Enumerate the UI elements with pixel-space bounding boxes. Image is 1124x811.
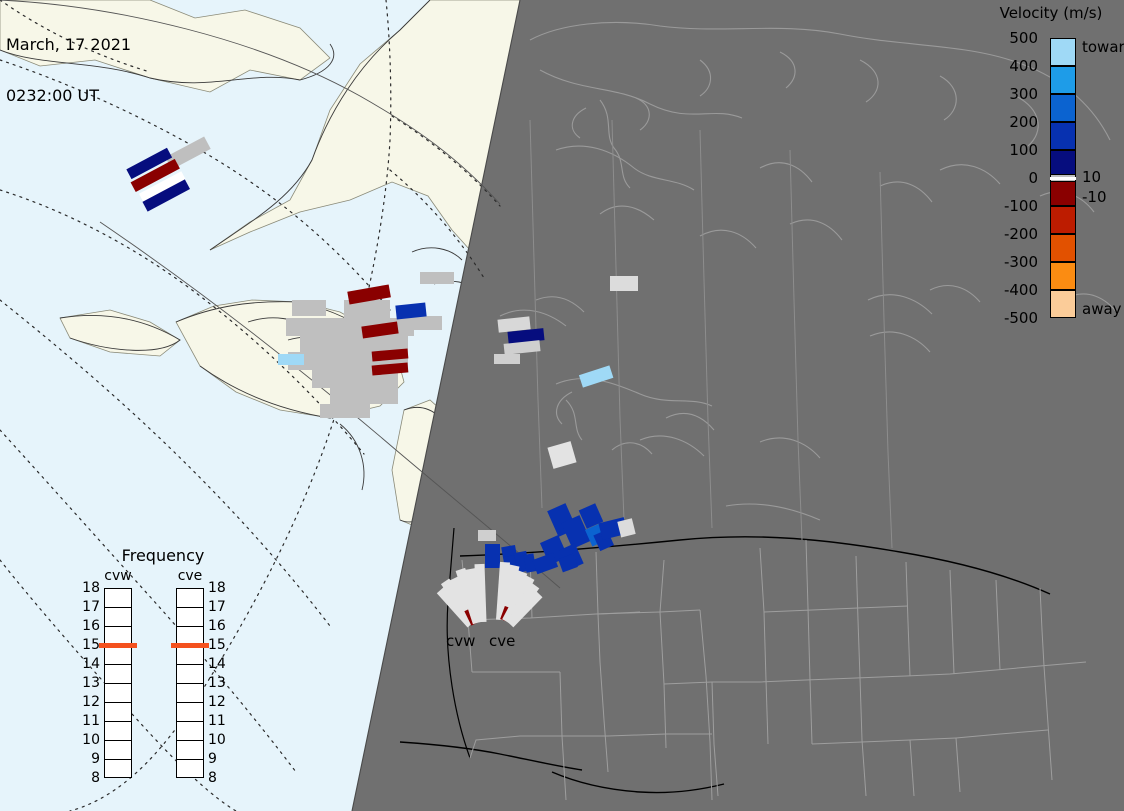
frequency-tick-label: 12 xyxy=(208,695,230,709)
frequency-tick-label: 16 xyxy=(208,619,230,633)
frequency-cell xyxy=(177,722,203,741)
frequency-tick-label: 9 xyxy=(78,752,100,766)
frequency-cell xyxy=(105,684,131,703)
frequency-cell xyxy=(105,703,131,722)
frequency-tick-label: 18 xyxy=(78,581,100,595)
frequency-tick-label: 10 xyxy=(208,733,230,747)
velocity-tick-label: -500 xyxy=(1004,311,1038,326)
frequency-cell xyxy=(105,760,131,779)
frequency-tick-label: 12 xyxy=(78,695,100,709)
frequency-cell xyxy=(177,760,203,779)
frequency-marker-cvw xyxy=(99,643,137,648)
velocity-colorbar-segment xyxy=(1050,66,1076,94)
map-label-cve: cve xyxy=(489,632,515,650)
ground-scatter-patches xyxy=(165,136,454,418)
frequency-tick-label: 11 xyxy=(78,714,100,728)
frequency-tick-label: 17 xyxy=(78,600,100,614)
velocity-tick-label: 200 xyxy=(1009,115,1038,130)
frequency-legend-title: Frequency xyxy=(88,546,238,565)
frequency-tick-label: 15 xyxy=(78,638,100,652)
frequency-cell xyxy=(105,722,131,741)
frequency-tick-label: 14 xyxy=(208,657,230,671)
velocity-tick-label: -300 xyxy=(1004,255,1038,270)
velocity-colorbar-segment xyxy=(1050,38,1076,66)
frequency-cell xyxy=(105,741,131,760)
frequency-marker-cve xyxy=(171,643,209,648)
velocity-tick-labels: 5004003002001000-100-200-300-400-500 xyxy=(978,38,1044,318)
velocity-colorbar-segment xyxy=(1050,234,1076,262)
map-label-cvw: cvw xyxy=(446,632,475,650)
velocity-colorbar-segment xyxy=(1050,122,1076,150)
radar-fov-cve xyxy=(496,562,543,628)
frequency-tick-label: 11 xyxy=(208,714,230,728)
frequency-tick-label: 8 xyxy=(208,771,230,785)
velocity-tick-label: 400 xyxy=(1009,59,1038,74)
frequency-tick-label: 10 xyxy=(78,733,100,747)
frequency-cell xyxy=(177,703,203,722)
frequency-cell xyxy=(177,684,203,703)
velocity-colorbar-segment xyxy=(1050,290,1076,318)
frequency-tick-label: 15 xyxy=(208,638,230,652)
frequency-cell xyxy=(177,646,203,665)
frequency-tick-label: 9 xyxy=(208,752,230,766)
frequency-bar-cvw[interactable] xyxy=(104,588,132,778)
frequency-column-label-cvw: cvw xyxy=(98,568,138,584)
frequency-bar-cve[interactable] xyxy=(176,588,204,778)
frequency-legend: Frequency cvw cve 18171615141312111098 1… xyxy=(88,546,238,784)
velocity-colorbar-segment xyxy=(1050,94,1076,122)
velocity-colorbar-segment xyxy=(1050,178,1076,206)
frequency-cell xyxy=(177,741,203,760)
frequency-tick-label: 14 xyxy=(78,657,100,671)
frequency-cell xyxy=(177,608,203,627)
radar-fov-cvw xyxy=(437,564,487,628)
frequency-tick-label: 18 xyxy=(208,581,230,595)
frequency-tick-label: 13 xyxy=(208,676,230,690)
velocity-tick-label: 500 xyxy=(1009,31,1038,46)
velocity-colorbar-segment xyxy=(1050,206,1076,234)
timestamp-time: 0232:00 UT xyxy=(6,87,131,104)
timestamp: March, 17 2021 0232:00 UT xyxy=(6,2,131,138)
velocity-legend: Velocity (m/s) 5004003002001000-100-200-… xyxy=(978,0,1124,330)
frequency-tick-label: 13 xyxy=(78,676,100,690)
velocity-tick-label: -400 xyxy=(1004,283,1038,298)
velocity-toward-label: toward xyxy=(1082,40,1124,55)
superdarn-map-view: March, 17 2021 0232:00 UT cvw cve Veloci… xyxy=(0,0,1124,811)
velocity-colorbar xyxy=(1050,38,1076,318)
velocity-tick-label: 0 xyxy=(1028,171,1038,186)
velocity-inner-lower-label: -10 xyxy=(1082,190,1107,205)
frequency-cell xyxy=(105,665,131,684)
velocity-tick-label: 100 xyxy=(1009,143,1038,158)
frequency-tick-label: 8 xyxy=(78,771,100,785)
frequency-tick-label: 16 xyxy=(78,619,100,633)
velocity-tick-label: -200 xyxy=(1004,227,1038,242)
frequency-tick-label: 17 xyxy=(208,600,230,614)
frequency-cell xyxy=(105,646,131,665)
velocity-inner-upper-label: 10 xyxy=(1082,170,1101,185)
velocity-tick-label: -100 xyxy=(1004,199,1038,214)
velocity-legend-title: Velocity (m/s) xyxy=(978,4,1124,22)
timestamp-date: March, 17 2021 xyxy=(6,36,131,53)
frequency-column-label-cve: cve xyxy=(170,568,210,584)
frequency-cell xyxy=(105,608,131,627)
velocity-colorbar-segment xyxy=(1050,262,1076,290)
frequency-cell xyxy=(105,589,131,608)
velocity-tick-label: 300 xyxy=(1009,87,1038,102)
ground-scatter-band-center xyxy=(1050,177,1076,180)
velocity-away-label: away xyxy=(1082,302,1122,317)
frequency-cell xyxy=(177,589,203,608)
frequency-cell xyxy=(177,665,203,684)
